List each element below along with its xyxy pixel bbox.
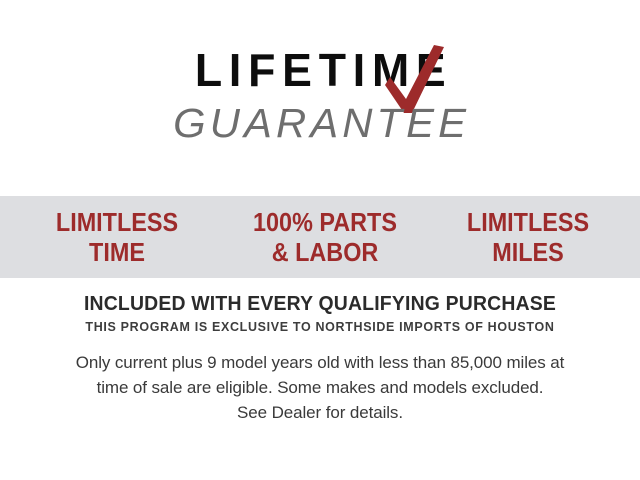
logo-block: LIFETIME GUARANTEE [0, 44, 640, 164]
logo-primary-row: LIFETIME [0, 44, 640, 96]
feature-line-2: TIME [32, 237, 203, 267]
disclaimer-line: time of sale are eligible. Some makes an… [33, 375, 607, 400]
logo-lifetime-text: LIFETIME [188, 44, 452, 96]
offer-subheadline: THIS PROGRAM IS EXCLUSIVE TO NORTHSIDE I… [13, 318, 627, 336]
feature-line-2: MILES [447, 237, 609, 267]
disclaimer-line: See Dealer for details. [33, 400, 607, 425]
offer-headline: INCLUDED WITH EVERY QUALIFYING PURCHASE [10, 292, 631, 316]
offer-details-block: INCLUDED WITH EVERY QUALIFYING PURCHASE … [0, 292, 640, 425]
logo-secondary-row: GUARANTEE [0, 100, 640, 146]
logo-guarantee-text: GUARANTEE [169, 100, 470, 146]
disclaimer-line: Only current plus 9 model years old with… [33, 350, 607, 375]
feature-column-limitless-miles: LIMITLESS MILES [447, 207, 609, 267]
feature-bar: LIMITLESS TIME 100% PARTS & LABOR LIMITL… [0, 196, 640, 278]
feature-line-1: 100% PARTS [235, 207, 415, 237]
offer-disclaimer: Only current plus 9 model years old with… [33, 350, 607, 425]
feature-line-1: LIMITLESS [32, 207, 203, 237]
feature-line-2: & LABOR [235, 237, 415, 267]
feature-column-parts-labor: 100% PARTS & LABOR [235, 207, 415, 267]
lifetime-guarantee-poster: LIFETIME GUARANTEE LIMITLESS TIME 100% P… [0, 0, 640, 480]
feature-column-limitless-time: LIMITLESS TIME [32, 207, 203, 267]
feature-line-1: LIMITLESS [447, 207, 609, 237]
